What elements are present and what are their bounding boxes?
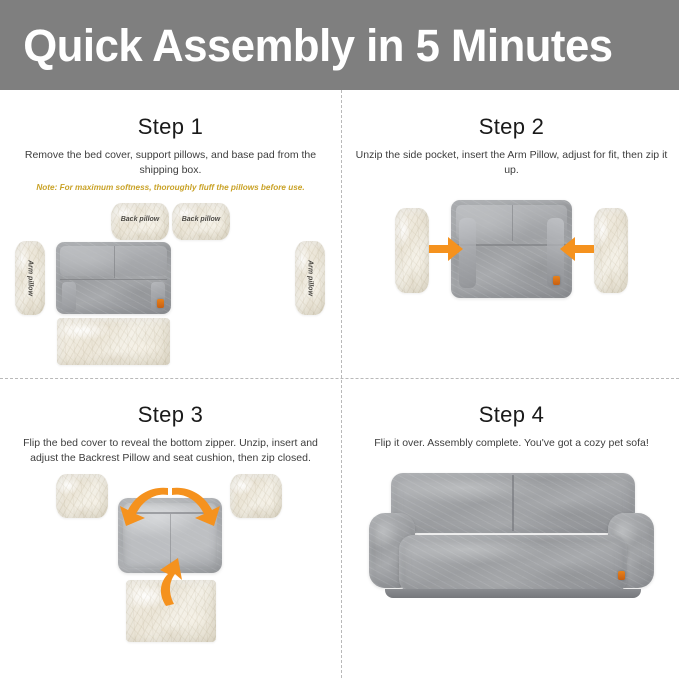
arrow-left-inward: [429, 236, 463, 262]
step-1-title: Step 1: [0, 114, 341, 140]
arrow-curve-left: [118, 484, 170, 526]
steps-grid: Step 1 Remove the bed cover, support pil…: [0, 90, 679, 678]
step-2-illustration: [341, 178, 679, 358]
step-3-description: Flip the bed cover to reveal the bottom …: [0, 436, 341, 466]
step-4-panel: Step 4 Flip it over. Assembly complete. …: [341, 378, 679, 666]
arrow-right-inward: [560, 236, 594, 262]
step-4-description: Flip it over. Assembly complete. You've …: [341, 436, 679, 451]
arm-pillow-left-label: Arm pillow: [27, 260, 34, 296]
arrow-curve-right: [170, 484, 222, 526]
base-pad: [57, 318, 170, 365]
brand-tag-step2: [553, 276, 560, 285]
arm-pillow-right: Arm pillow: [295, 241, 325, 315]
brand-tag-step1: [157, 299, 164, 308]
brand-tag-step4: [618, 571, 625, 580]
step-4-illustration: [341, 451, 679, 631]
back-pillow-right: Back pillow: [172, 203, 230, 240]
page-title: Quick Assembly in 5 Minutes: [0, 23, 613, 68]
arm-pillow-right-label: Arm pillow: [307, 260, 314, 296]
step-2-panel: Step 2 Unzip the side pocket, insert the…: [341, 90, 679, 378]
arrow-curve-bottom: [152, 558, 184, 606]
step-1-illustration: Back pillow Back pillow Arm pillow Arm p…: [0, 194, 341, 374]
step-3-illustration: [0, 466, 341, 656]
step-3-panel: Step 3 Flip the bed cover to reveal the …: [0, 378, 341, 666]
step-3-title: Step 3: [0, 402, 341, 428]
step-2-description: Unzip the side pocket, insert the Arm Pi…: [341, 148, 679, 178]
header-banner: Quick Assembly in 5 Minutes: [0, 0, 679, 90]
step-1-note: Note: For maximum softness, thoroughly f…: [0, 182, 341, 193]
back-pillow-right-label: Back pillow: [172, 216, 230, 223]
back-pillow-left-label: Back pillow: [111, 216, 169, 223]
step-1-panel: Step 1 Remove the bed cover, support pil…: [0, 90, 341, 378]
assembled-pet-sofa: [369, 473, 654, 603]
step-4-title: Step 4: [341, 402, 679, 428]
arm-pillow-left-step2: [395, 208, 429, 293]
step-2-title: Step 2: [341, 114, 679, 140]
arm-pillow-right-step2: [594, 208, 628, 293]
backrest-pillow-left: [56, 474, 108, 518]
step-1-description: Remove the bed cover, support pillows, a…: [0, 148, 341, 178]
infographic-page: Quick Assembly in 5 Minutes Step 1 Remov…: [0, 0, 679, 678]
bed-cover: [56, 242, 171, 314]
sofa-seat: [399, 535, 627, 593]
arm-pillow-left: Arm pillow: [15, 241, 45, 315]
backrest-pillow-right: [230, 474, 282, 518]
back-pillow-left: Back pillow: [111, 203, 169, 240]
